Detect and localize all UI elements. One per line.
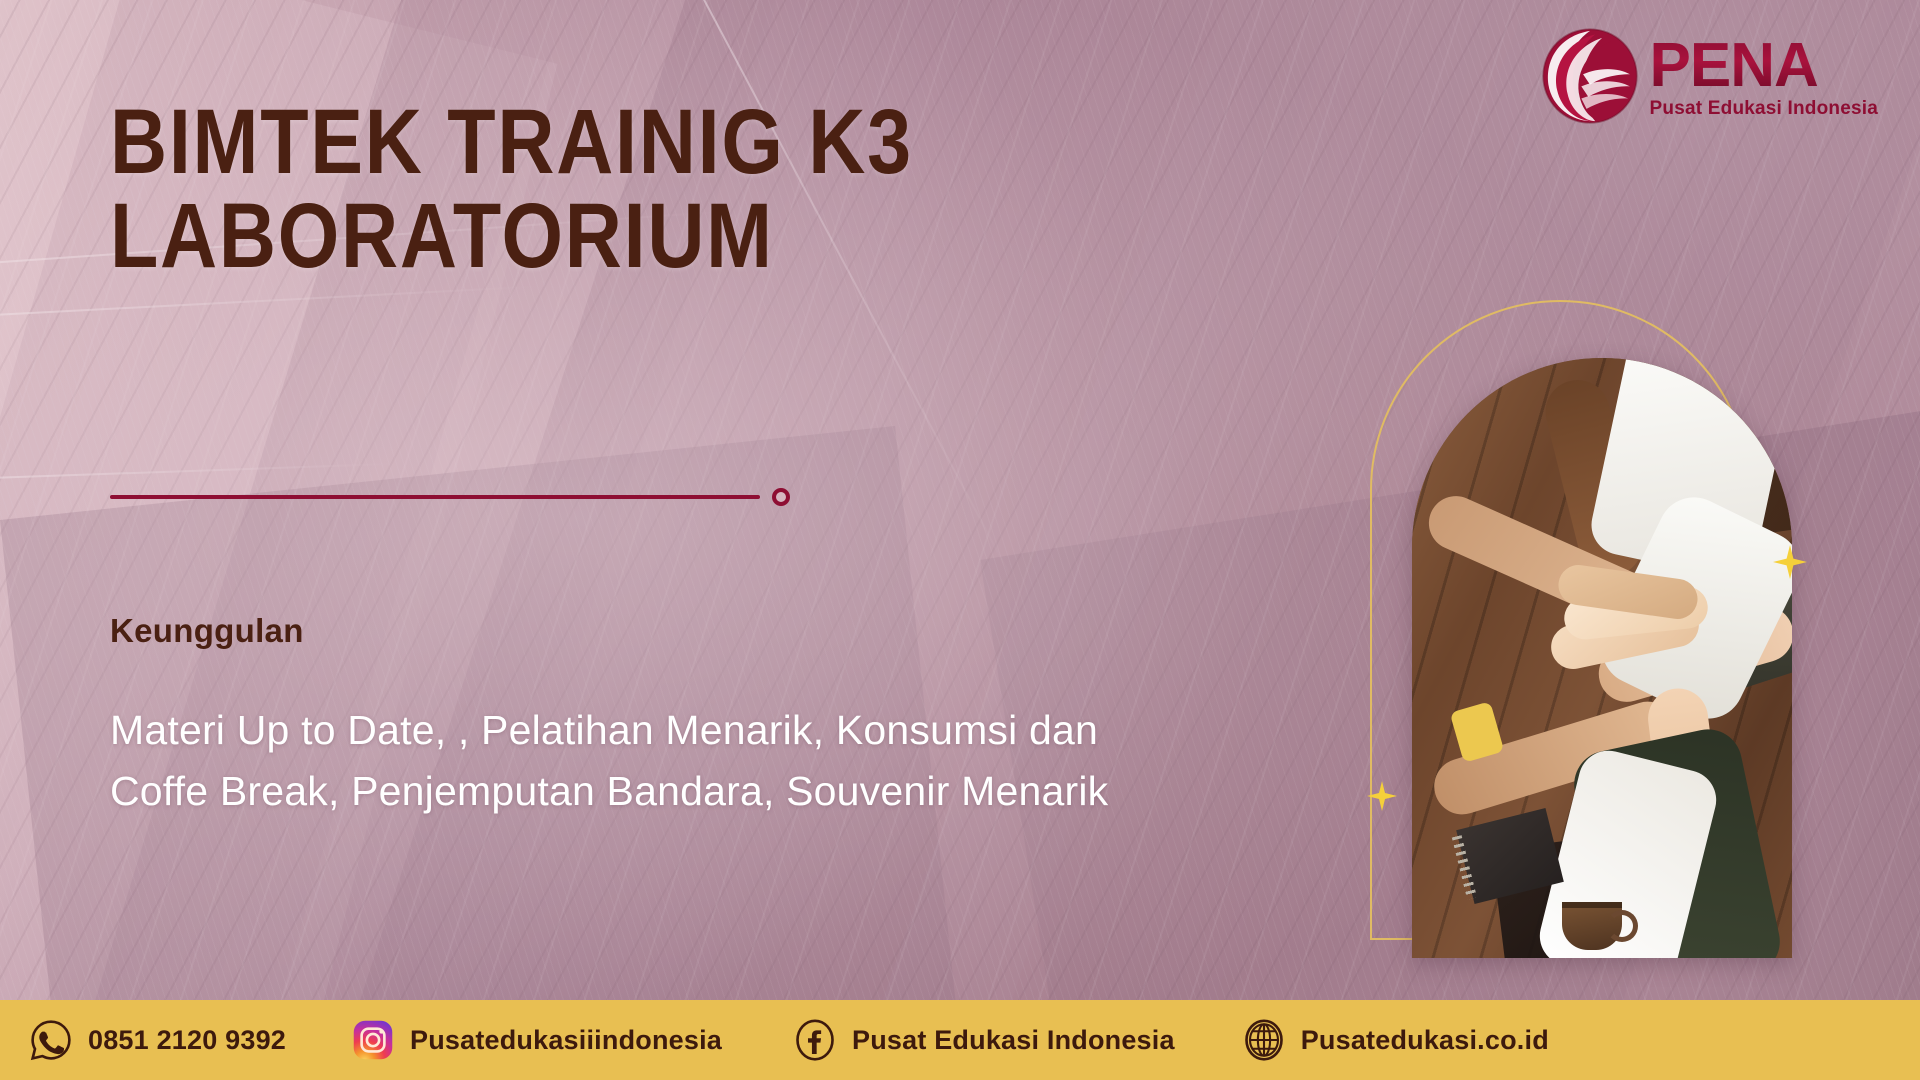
footer-label-facebook: Pusat Edukasi Indonesia xyxy=(852,1025,1175,1056)
logo-wordmark-block: PENA Pusat Edukasi Indonesia xyxy=(1650,35,1878,118)
team-hands-stacked-photo xyxy=(1412,358,1792,958)
logo-word: PENA xyxy=(1650,35,1878,97)
page-title: BIMTEK TRAINIG K3 LABORATORIUM xyxy=(110,96,1022,284)
footer-item-whatsapp[interactable]: 0851 2120 9392 xyxy=(30,1019,286,1061)
facebook-icon xyxy=(794,1019,836,1061)
logo-tagline: Pusat Edukasi Indonesia xyxy=(1650,99,1878,118)
footer-item-website[interactable]: Pusatedukasi.co.id xyxy=(1243,1019,1549,1061)
benefits-heading: Keunggulan xyxy=(110,612,304,650)
benefits-text: Materi Up to Date, , Pelatihan Menarik, … xyxy=(110,700,1170,821)
footer-label-instagram: Pusatedukasiiindonesia xyxy=(410,1025,722,1056)
page-title-line-2: LABORATORIUM xyxy=(110,190,1022,284)
promotional-banner: PENA Pusat Edukasi Indonesia BIMTEK TRAI… xyxy=(0,0,1920,1080)
pena-quill-emblem-icon xyxy=(1538,24,1642,128)
page-title-line-1: BIMTEK TRAINIG K3 xyxy=(110,91,913,193)
divider-line xyxy=(110,495,760,499)
globe-icon xyxy=(1243,1019,1285,1061)
contact-footer: 0851 2120 9392 Pusatedukasii xyxy=(0,1000,1920,1080)
footer-label-whatsapp: 0851 2120 9392 xyxy=(88,1025,286,1056)
photo-arch-block xyxy=(1370,300,1800,980)
pena-logo[interactable]: PENA Pusat Edukasi Indonesia xyxy=(1538,24,1878,128)
instagram-icon xyxy=(352,1019,394,1061)
photo-coffee-cup xyxy=(1562,902,1622,950)
footer-item-instagram[interactable]: Pusatedukasiiindonesia xyxy=(352,1019,722,1061)
footer-item-facebook[interactable]: Pusat Edukasi Indonesia xyxy=(794,1019,1175,1061)
footer-label-website: Pusatedukasi.co.id xyxy=(1301,1025,1549,1056)
divider-dot-icon xyxy=(772,488,790,506)
photo-stacked-hands xyxy=(1550,568,1718,686)
whatsapp-icon xyxy=(30,1019,72,1061)
title-divider xyxy=(110,488,790,506)
